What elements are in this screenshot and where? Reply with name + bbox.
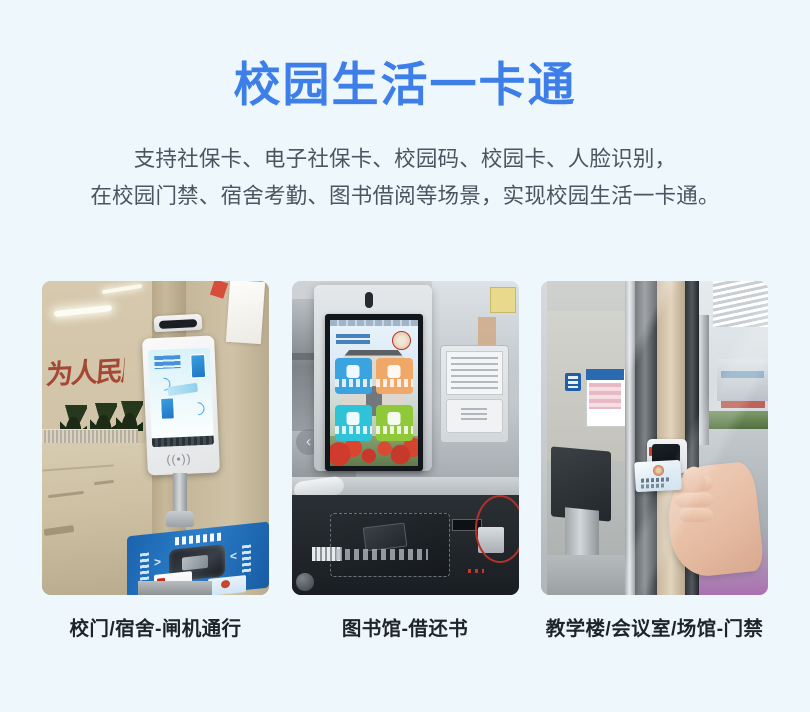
kiosk-tile-label <box>335 379 372 387</box>
kiosk-touchscreen[interactable] <box>325 314 423 471</box>
notice-sheet <box>446 351 503 395</box>
scenario-card-access[interactable]: 教学楼/会议室/场馆-门禁 <box>541 281 768 641</box>
promo-page: 校园生活一卡通 支持社保卡、电子社保卡、校园码、校园卡、人脸识别， 在校园门禁、… <box>0 0 810 712</box>
wall-calligraphy: 为人民服务 <box>45 355 125 393</box>
kiosk-tile-search[interactable] <box>335 405 372 441</box>
kiosk-screen-content <box>330 320 418 466</box>
door-frame-dark <box>635 281 657 595</box>
scanning-pad-label <box>336 549 428 560</box>
kiosk-tile-label <box>376 426 413 434</box>
door-frame-left <box>625 281 635 595</box>
account-icon <box>388 412 401 425</box>
subtitle-line-2: 在校园门禁、宿舍考勤、图书借阅等场景，实现校园生活一卡通。 <box>60 178 750 215</box>
reader-status-led-icon <box>649 447 652 456</box>
nfc-wave-icon <box>189 400 207 418</box>
scenario-card-gate[interactable]: 为人民服务 <box>42 281 269 641</box>
return-icon <box>388 365 401 378</box>
terminal-camera-icon <box>154 314 203 332</box>
status-led-icon <box>468 569 484 573</box>
page-subtitle: 支持社保卡、电子社保卡、校园码、校园卡、人脸识别， 在校园门禁、宿舍考勤、图书借… <box>60 141 750 215</box>
scenario-caption-access: 教学楼/会议室/场馆-门禁 <box>541 612 768 641</box>
wall-sign-icon <box>565 373 581 391</box>
photo-door-access <box>541 281 768 595</box>
wall-poster <box>226 281 265 344</box>
finger <box>675 492 713 507</box>
direction-arrow-icon: < <box>230 549 237 564</box>
turnstile-body <box>138 581 212 595</box>
page-title: 校园生活一卡通 <box>0 58 810 112</box>
kiosk-tile-label <box>335 426 372 434</box>
card-reader-plate[interactable] <box>446 399 503 433</box>
nfc-reader-icon[interactable]: ((•)) <box>162 450 197 467</box>
terminal-screen[interactable] <box>148 348 214 448</box>
scenario-card-list: 为人民服务 <box>42 281 768 641</box>
outdoor-signage <box>721 401 765 408</box>
card-illustration-icon <box>167 383 198 396</box>
kiosk-tile-borrow[interactable] <box>335 358 372 394</box>
base-knob <box>296 573 314 591</box>
window-blinds <box>713 281 768 327</box>
school-emblem-icon <box>392 331 411 350</box>
kiosk-tile-account[interactable] <box>376 405 413 441</box>
outdoor-building <box>717 359 768 401</box>
phone-illustration-icon <box>190 354 206 379</box>
kiosk-tile-label <box>376 379 413 387</box>
screen-title-text <box>336 334 370 346</box>
photo-library-kiosk: ‹ <box>292 281 519 595</box>
phone-illustration-icon <box>160 397 175 420</box>
screen-tab-strip <box>330 320 418 326</box>
kiosk-camera-icon <box>365 292 373 308</box>
direction-arrow-icon: > <box>154 555 161 570</box>
turnstile-label-right <box>242 545 251 576</box>
finger <box>679 508 713 523</box>
wall-sign <box>490 287 516 313</box>
interior-floor <box>547 555 625 595</box>
scenario-caption-gate: 校门/宿舍-闸机通行 <box>42 612 269 641</box>
subtitle-line-1: 支持社保卡、电子社保卡、校园码、校园卡、人脸识别， <box>60 141 750 178</box>
terminal-pole-base <box>166 511 194 527</box>
book-on-pad <box>362 523 407 552</box>
notice-board-header <box>586 369 624 380</box>
planter-railing <box>42 429 138 444</box>
scenario-caption-library: 图书馆-借还书 <box>292 612 519 641</box>
terminal-screen-heading <box>154 355 181 369</box>
outdoor-hedge <box>709 411 768 429</box>
kiosk-tile-return[interactable] <box>376 358 413 394</box>
borrow-icon <box>347 365 360 378</box>
turnstile-label-left <box>140 553 149 584</box>
page-header: 校园生活一卡通 支持社保卡、电子社保卡、校园码、校园卡、人脸识别， 在校园门禁、… <box>0 0 810 215</box>
potted-plant-icon <box>116 401 143 431</box>
photo-gate-turnstile: 为人民服务 <box>42 281 269 595</box>
campus-card-graphic <box>208 575 246 595</box>
notice-board-content <box>589 383 621 409</box>
scenario-card-library[interactable]: ‹ <box>292 281 519 641</box>
search-icon <box>347 412 360 425</box>
